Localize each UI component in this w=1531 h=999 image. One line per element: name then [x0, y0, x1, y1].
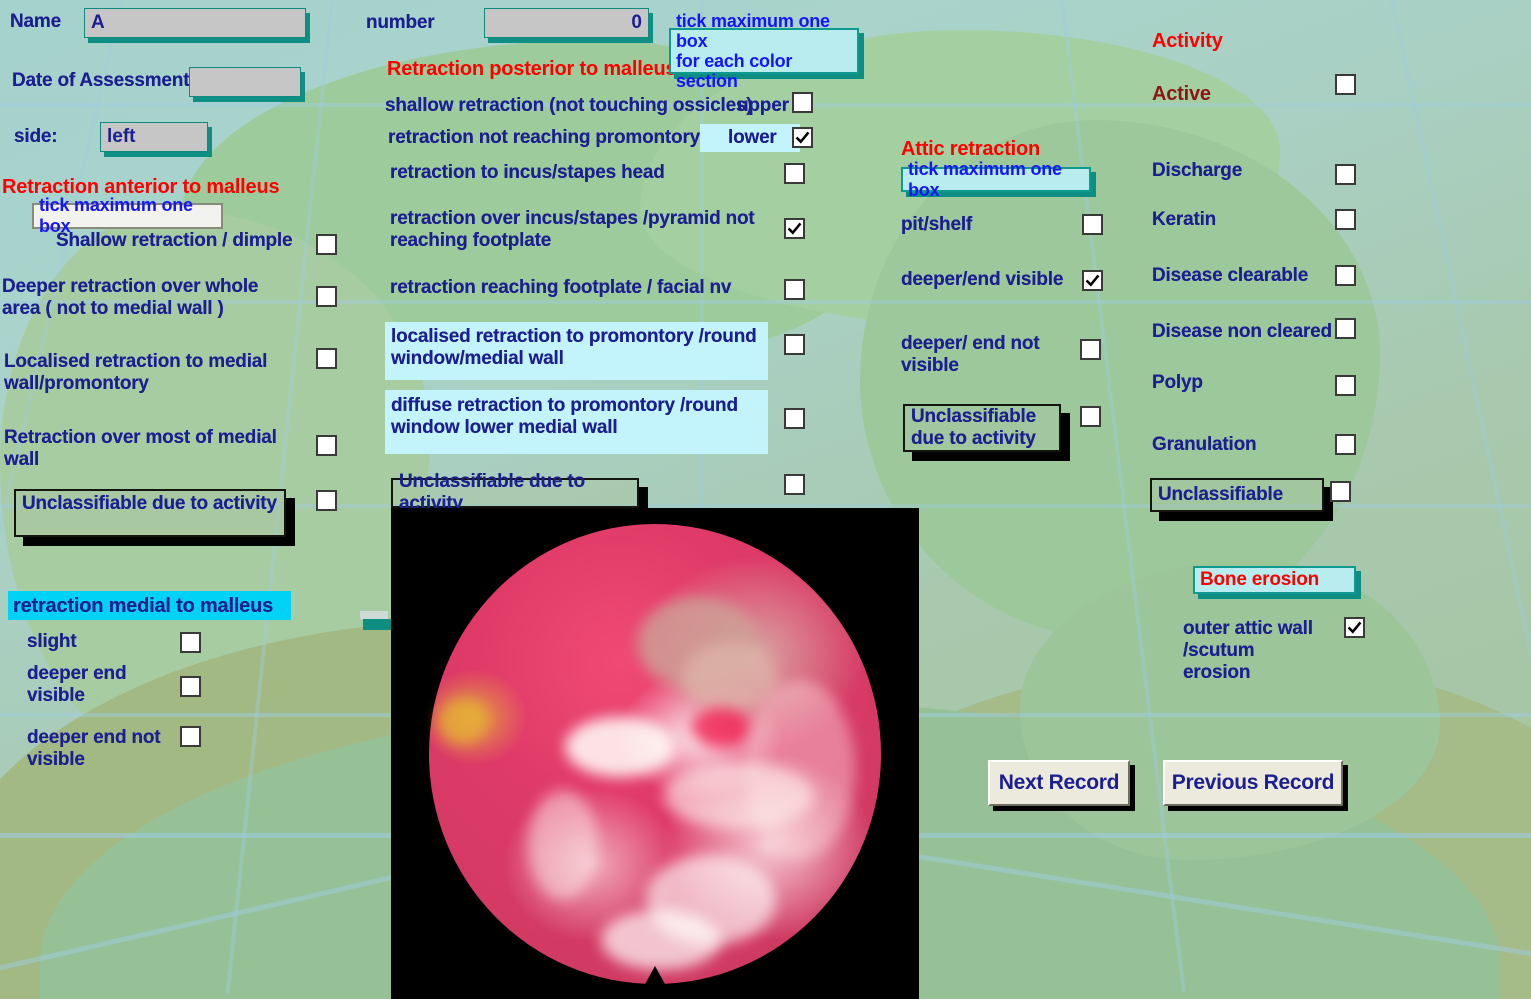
posterior-option-6-checkbox[interactable] [784, 408, 805, 429]
anterior-option-3-label: Retraction over most of medial wall [4, 427, 299, 471]
medial-option-2-label: deeper end not visible [27, 727, 187, 771]
medial-option-1-checkbox[interactable] [180, 676, 201, 697]
anterior-option-1-checkbox[interactable] [316, 286, 337, 307]
attic-option-2-label: deeper/ end not visible [901, 333, 1053, 377]
posterior-upper-tag: upper [737, 95, 789, 117]
medial-option-2-checkbox[interactable] [180, 726, 201, 747]
posterior-hint-line-2: for each color section [676, 51, 852, 91]
check-icon [1084, 272, 1101, 289]
activity-section-title: Activity [1152, 30, 1223, 53]
anterior-hint-box: tick maximum one box [32, 203, 223, 229]
side-label: side: [14, 126, 57, 148]
attic-option-1-checkbox[interactable] [1082, 270, 1103, 291]
attic-option-3-label: Unclassifiable due to activity [911, 406, 1053, 450]
activity-option-5-checkbox[interactable] [1335, 375, 1356, 396]
image-bottom-notch [644, 966, 666, 986]
medial-option-0-checkbox[interactable] [180, 632, 201, 653]
posterior-section-title: Retraction posterior to malleus [387, 58, 676, 81]
posterior-option-5-checkbox[interactable] [784, 334, 805, 355]
activity-option-3-label: Disease clearable [1152, 265, 1308, 287]
posterior-option-3-checkbox[interactable] [784, 218, 805, 239]
medial-option-1-label: deeper end visible [27, 663, 172, 707]
activity-option-6-label: Granulation [1152, 434, 1256, 456]
number-label: number [366, 12, 434, 34]
otoendoscopy-image [391, 508, 919, 999]
activity-option-4-label: Disease non cleared [1152, 321, 1332, 343]
anterior-option-4-label: Unclassifiable due to activity [22, 493, 277, 515]
anterior-option-3-checkbox[interactable] [316, 435, 337, 456]
posterior-option-2-checkbox[interactable] [784, 163, 805, 184]
posterior-option-6-label: diffuse retraction to promontory /round … [391, 395, 763, 439]
posterior-option-0-label: shallow retraction (not touching ossicle… [385, 95, 780, 117]
posterior-option-4-label: retraction reaching footplate / facial n… [390, 277, 770, 299]
anterior-option-4-plate: Unclassifiable due to activity [14, 489, 286, 537]
activity-option-1-checkbox[interactable] [1335, 164, 1356, 185]
bone-erosion-option-0-label: outer attic wall /scutum erosion [1183, 618, 1323, 684]
activity-option-1-label: Discharge [1152, 160, 1242, 182]
posterior-hint-box: tick maximum one box for each color sect… [669, 28, 859, 74]
activity-option-7-checkbox[interactable] [1330, 481, 1351, 502]
activity-option-3-checkbox[interactable] [1335, 265, 1356, 286]
posterior-option-3-label: retraction over incus/stapes /pyramid no… [390, 208, 765, 252]
activity-option-7-plate: Unclassifiable [1150, 478, 1324, 512]
attic-option-2-checkbox[interactable] [1080, 339, 1101, 360]
name-label: Name [10, 11, 61, 33]
decorative-artifact-teal [363, 619, 393, 630]
medial-section-header: retraction medial to malleus [8, 591, 291, 620]
check-icon [1346, 619, 1363, 636]
posterior-option-1-checkbox[interactable] [792, 127, 813, 148]
attic-hint-text: tick maximum one box [908, 159, 1084, 201]
activity-option-0-label: Active [1152, 83, 1211, 106]
posterior-option-2-label: retraction to incus/stapes head [390, 162, 730, 184]
activity-option-2-label: Keratin [1152, 209, 1216, 231]
posterior-option-7-plate: Unclassifiable due to activity [391, 478, 639, 508]
bone-erosion-title: Bone erosion [1200, 569, 1319, 591]
attic-option-0-checkbox[interactable] [1082, 214, 1103, 235]
posterior-option-4-checkbox[interactable] [784, 279, 805, 300]
date-of-assessment-input[interactable] [189, 67, 301, 97]
tympanic-membrane [429, 524, 881, 984]
bone-erosion-header: Bone erosion [1193, 566, 1356, 594]
anterior-option-2-checkbox[interactable] [316, 348, 337, 369]
anterior-option-1-label: Deeper retraction over whole area ( not … [2, 276, 292, 320]
decorative-artifact-light [360, 611, 388, 619]
posterior-lower-tag: lower [728, 127, 777, 149]
activity-option-7-label: Unclassifiable [1158, 484, 1283, 506]
check-icon [786, 220, 803, 237]
posterior-option-0-checkbox[interactable] [792, 92, 813, 113]
posterior-option-1-label: retraction not reaching promontory [388, 127, 718, 149]
anterior-option-2-label: Localised retraction to medial wall/prom… [4, 351, 294, 395]
posterior-hint-line-1: tick maximum one box [676, 11, 852, 51]
check-icon [794, 129, 811, 146]
anterior-option-4-checkbox[interactable] [316, 490, 337, 511]
attic-option-0-label: pit/shelf [901, 214, 972, 236]
medial-option-0-label: slight [27, 631, 76, 653]
side-input[interactable]: left [100, 122, 208, 152]
number-input[interactable]: 0 [484, 8, 649, 38]
bone-erosion-option-0-checkbox[interactable] [1344, 617, 1365, 638]
attic-option-3-plate: Unclassifiable due to activity [903, 404, 1061, 452]
anterior-hint-text: tick maximum one box [39, 195, 216, 237]
activity-option-4-checkbox[interactable] [1335, 318, 1356, 339]
attic-hint-box: tick maximum one box [901, 167, 1091, 192]
previous-record-button[interactable]: Previous Record [1163, 760, 1343, 806]
next-record-button[interactable]: Next Record [988, 760, 1130, 806]
anterior-option-0-checkbox[interactable] [316, 234, 337, 255]
posterior-option-5-label: localised retraction to promontory /roun… [391, 326, 763, 370]
activity-option-2-checkbox[interactable] [1335, 209, 1356, 230]
date-of-assessment-label: Date of Assessment [12, 70, 189, 92]
attic-option-3-checkbox[interactable] [1080, 406, 1101, 427]
activity-option-5-label: Polyp [1152, 372, 1203, 394]
name-input[interactable]: A [84, 8, 306, 38]
medial-section-title: retraction medial to malleus [13, 595, 273, 617]
attic-option-1-label: deeper/end visible [901, 269, 1063, 291]
posterior-option-7-checkbox[interactable] [784, 474, 805, 495]
activity-option-0-checkbox[interactable] [1335, 74, 1356, 95]
activity-option-6-checkbox[interactable] [1335, 434, 1356, 455]
